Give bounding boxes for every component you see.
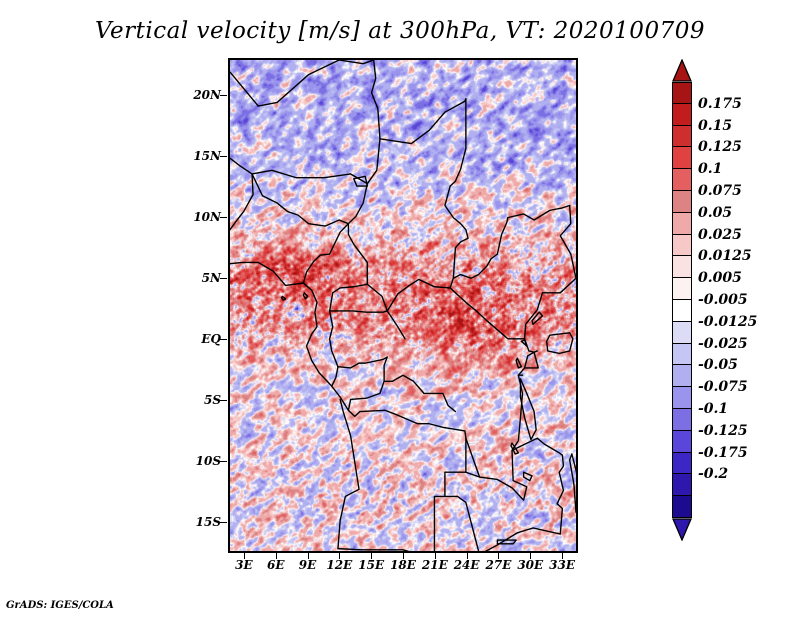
map-boundary-line bbox=[303, 293, 307, 299]
map-boundary-line bbox=[367, 139, 380, 184]
colorbar-swatch bbox=[672, 453, 692, 475]
y-axis-tick-label: 10S bbox=[196, 454, 221, 468]
colorbar-level-label: -0.0125 bbox=[698, 314, 757, 330]
y-axis-tick-label: EQ bbox=[201, 332, 221, 346]
x-axis-tick-label: 27E bbox=[486, 558, 512, 572]
colorbar-swatch bbox=[672, 496, 692, 518]
y-axis-labels: 20N15N10N5NEQ5S10S15S bbox=[175, 58, 221, 553]
x-axis-tick bbox=[244, 553, 245, 559]
colorbar-level-label: -0.05 bbox=[698, 357, 738, 373]
colorbar-swatch bbox=[672, 256, 692, 278]
colorbar-swatch bbox=[672, 147, 692, 169]
colorbar-level-label: -0.175 bbox=[698, 445, 748, 461]
colorbar-level-label: 0.005 bbox=[698, 270, 742, 286]
colorbar-level-label: 0.05 bbox=[698, 205, 732, 221]
map-boundary-line bbox=[330, 284, 368, 386]
map-boundary-line bbox=[466, 438, 480, 477]
map-boundary-line bbox=[372, 60, 380, 139]
map-boundary-line bbox=[348, 184, 367, 285]
colorbar-level-label: -0.125 bbox=[698, 423, 748, 439]
x-axis-tick-label: 33E bbox=[549, 558, 575, 572]
x-axis-tick-label: 18E bbox=[390, 558, 416, 572]
colorbar-swatch bbox=[672, 82, 692, 104]
colorbar-level-label: 0.025 bbox=[698, 227, 742, 243]
x-axis-tick-label: 9E bbox=[299, 558, 317, 572]
y-axis-tick bbox=[220, 461, 227, 462]
map-boundary-line bbox=[516, 358, 521, 368]
map-boundary-line bbox=[450, 218, 508, 288]
y-axis-tick-label: 5N bbox=[202, 271, 221, 285]
colorbar-level-label: -0.075 bbox=[698, 379, 748, 395]
page-title: Vertical velocity [m/s] at 300hPa, VT: 2… bbox=[0, 18, 800, 44]
map-boundary-line bbox=[338, 399, 359, 548]
map-boundary-line bbox=[339, 60, 374, 64]
colorbar-swatch bbox=[672, 235, 692, 257]
x-axis-labels: 3E6E9E12E15E18E21E24E27E30E33E bbox=[228, 558, 578, 578]
y-axis-tick bbox=[220, 522, 227, 523]
x-axis-tick bbox=[562, 553, 563, 559]
colorbar-level-label: -0.005 bbox=[698, 292, 748, 308]
colorbar-level-label: -0.1 bbox=[698, 401, 728, 417]
x-axis-tick bbox=[276, 553, 277, 559]
colorbar-level-label: 0.15 bbox=[698, 118, 732, 134]
map-boundary-line bbox=[387, 279, 524, 338]
x-axis-tick-label: 30E bbox=[517, 558, 543, 572]
y-axis-tick-label: 5S bbox=[204, 393, 221, 407]
map-boundary-line bbox=[303, 224, 348, 283]
y-axis-tick bbox=[220, 217, 227, 218]
map-boundary-line bbox=[230, 60, 339, 106]
colorbar-swatch bbox=[672, 104, 692, 126]
y-axis-tick bbox=[220, 400, 227, 401]
colorbar-swatch bbox=[672, 126, 692, 148]
y-axis-tick-label: 20N bbox=[193, 88, 221, 102]
colorbar-level-label: 0.075 bbox=[698, 183, 742, 199]
colorbar-max-arrow-icon bbox=[672, 59, 692, 82]
x-axis-tick-label: 3E bbox=[235, 558, 253, 572]
y-axis-tick bbox=[220, 278, 227, 279]
map-boundary-line bbox=[525, 283, 571, 352]
y-axis-tick bbox=[220, 156, 227, 157]
colorbar-swatches bbox=[672, 82, 692, 518]
map-boundary-line bbox=[348, 410, 465, 438]
map-boundary-line bbox=[520, 379, 536, 440]
colorbar-swatch bbox=[672, 300, 692, 322]
y-axis-tick bbox=[220, 339, 227, 340]
x-axis-tick bbox=[308, 553, 309, 559]
map-boundary-line bbox=[384, 375, 455, 411]
colorbar-swatch bbox=[672, 431, 692, 453]
x-axis-tick-label: 21E bbox=[422, 558, 448, 572]
map-boundary-line bbox=[560, 206, 576, 284]
x-axis-tick-label: 6E bbox=[267, 558, 285, 572]
y-axis-tick-label: 15S bbox=[196, 515, 221, 529]
map-boundary-line bbox=[508, 206, 570, 220]
colorbar-swatch bbox=[672, 365, 692, 387]
colorbar: 0.1750.150.1250.10.0750.050.0250.01250.0… bbox=[672, 60, 692, 540]
colorbar-swatch bbox=[672, 474, 692, 496]
x-axis-tick bbox=[435, 553, 436, 559]
y-axis-tick-label: 15N bbox=[193, 149, 221, 163]
map-boundary-line bbox=[547, 333, 573, 354]
colorbar-level-label: 0.1 bbox=[698, 161, 722, 177]
map-boundary-line bbox=[230, 158, 367, 183]
x-axis-tick-label: 12E bbox=[326, 558, 352, 572]
map-boundary-line bbox=[330, 311, 388, 312]
map-boundary-line bbox=[445, 186, 468, 278]
colorbar-swatch bbox=[672, 322, 692, 344]
colorbar-min-arrow-icon bbox=[672, 518, 692, 541]
colorbar-swatch bbox=[672, 278, 692, 300]
grads-plot-page: Vertical velocity [m/s] at 300hPa, VT: 2… bbox=[0, 0, 800, 618]
colorbar-level-label: 0.0125 bbox=[698, 248, 752, 264]
x-axis-tick-label: 24E bbox=[454, 558, 480, 572]
map-boundary-line bbox=[380, 99, 466, 144]
colorbar-tick-labels: 0.1750.150.1250.10.0750.050.0250.01250.0… bbox=[698, 82, 800, 518]
colorbar-swatch bbox=[672, 344, 692, 366]
map-boundary-line bbox=[230, 174, 253, 230]
map-boundary-line bbox=[450, 99, 466, 186]
colorbar-swatch bbox=[672, 213, 692, 235]
map-boundary-line bbox=[434, 472, 465, 551]
map-boundary-line bbox=[570, 454, 576, 512]
grads-attribution: GrADS: IGES/COLA bbox=[6, 600, 114, 611]
x-axis-tick bbox=[371, 553, 372, 559]
colorbar-swatch bbox=[672, 387, 692, 409]
colorbar-swatch bbox=[672, 409, 692, 431]
colorbar-level-label: -0.2 bbox=[698, 466, 728, 482]
y-axis-tick-label: 10N bbox=[193, 210, 221, 224]
x-axis-tick bbox=[498, 553, 499, 559]
x-axis-tick bbox=[530, 553, 531, 559]
colorbar-swatch bbox=[672, 191, 692, 213]
map-boundary-line bbox=[445, 455, 564, 551]
map-boundary-line bbox=[524, 472, 532, 480]
colorbar-swatch bbox=[672, 169, 692, 191]
colorbar-level-label: 0.175 bbox=[698, 96, 742, 112]
map-boundary-line bbox=[497, 540, 516, 544]
colorbar-level-label: 0.125 bbox=[698, 139, 742, 155]
map-boundary-line bbox=[252, 174, 348, 226]
country-borders-overlay bbox=[230, 60, 576, 551]
x-axis-tick bbox=[403, 553, 404, 559]
map-boundary-line bbox=[281, 296, 285, 300]
map-boundary-line bbox=[354, 176, 368, 186]
x-axis-tick bbox=[339, 553, 340, 559]
map-boundary-line bbox=[338, 357, 387, 410]
x-axis-tick bbox=[467, 553, 468, 559]
map-boundary-line bbox=[338, 549, 455, 551]
colorbar-level-label: -0.025 bbox=[698, 336, 748, 352]
map-plot-area bbox=[228, 58, 578, 553]
y-axis-tick bbox=[220, 95, 227, 96]
x-axis-tick-label: 15E bbox=[358, 558, 384, 572]
